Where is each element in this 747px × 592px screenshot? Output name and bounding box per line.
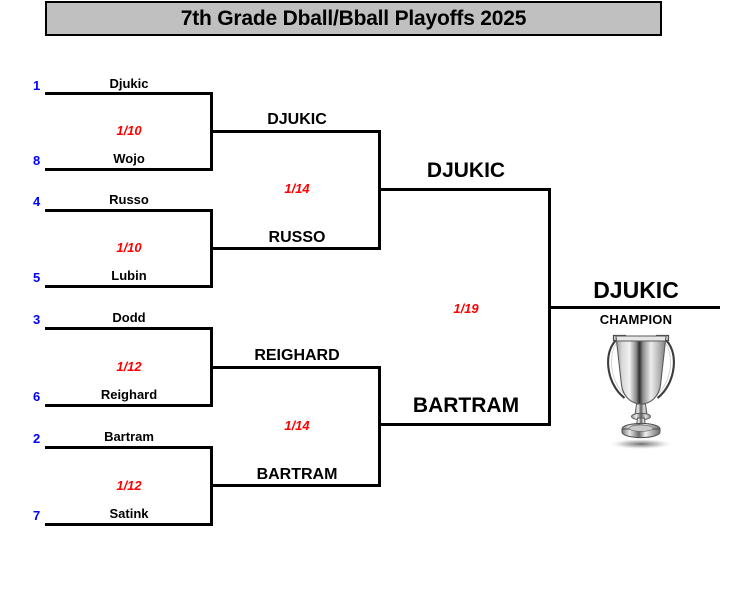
team-r1-m4-top: Bartram bbox=[45, 429, 213, 444]
date-r1-m3: 1/12 bbox=[45, 359, 213, 374]
champion-label: CHAMPION bbox=[551, 312, 721, 327]
team-r1-m1-top: Djukic bbox=[45, 76, 213, 91]
date-r2-m2: 1/14 bbox=[213, 418, 381, 433]
bracket-line-r2-m2-top bbox=[210, 366, 381, 369]
seed-r1-m1-top: 1 bbox=[33, 78, 40, 93]
team-r1-m2-top: Russo bbox=[45, 192, 213, 207]
date-r3: 1/19 bbox=[381, 301, 551, 316]
bracket-line-champion bbox=[548, 306, 720, 309]
team-r1-m3-top: Dodd bbox=[45, 310, 213, 325]
seed-r1-m4-top: 2 bbox=[33, 431, 40, 446]
seed-r1-m2-bottom: 5 bbox=[33, 270, 40, 285]
bracket-line-r2-m2-bottom bbox=[210, 484, 381, 487]
seed-r1-m1-bottom: 8 bbox=[33, 153, 40, 168]
trophy-icon bbox=[596, 328, 686, 453]
title-banner: 7th Grade Dball/Bball Playoffs 2025 bbox=[45, 1, 662, 36]
team-r3-top: DJUKIC bbox=[381, 159, 551, 183]
team-r1-m3-bottom: Reighard bbox=[45, 387, 213, 402]
bracket-line-r1-m2-bottom bbox=[45, 285, 213, 288]
team-r3-bottom: BARTRAM bbox=[381, 394, 551, 418]
bracket-line-r3-top bbox=[378, 188, 551, 191]
seed-r1-m3-bottom: 6 bbox=[33, 389, 40, 404]
bracket-line-r1-m1-bottom bbox=[45, 168, 213, 171]
champion-name: DJUKIC bbox=[551, 277, 721, 304]
bracket-line-r3-bottom bbox=[378, 423, 551, 426]
seed-r1-m2-top: 4 bbox=[33, 194, 40, 209]
bracket-line-r1-m3-bottom bbox=[45, 404, 213, 407]
bracket-connector-r2-m2 bbox=[378, 366, 381, 487]
team-r1-m4-bottom: Satink bbox=[45, 506, 213, 521]
bracket-line-r2-m1-top bbox=[210, 130, 381, 133]
team-r1-m1-bottom: Wojo bbox=[45, 151, 213, 166]
date-r1-m2: 1/10 bbox=[45, 240, 213, 255]
bracket-line-r1-m4-bottom bbox=[45, 523, 213, 526]
date-r1-m4: 1/12 bbox=[45, 478, 213, 493]
team-r1-m2-bottom: Lubin bbox=[45, 268, 213, 283]
bracket-line-r1-m4-top bbox=[45, 446, 213, 449]
bracket-line-r1-m1-top bbox=[45, 92, 213, 95]
bracket-line-r1-m3-top bbox=[45, 327, 213, 330]
team-r2-m2-bottom: BARTRAM bbox=[213, 466, 381, 484]
team-r2-m1-bottom: RUSSO bbox=[213, 229, 381, 247]
playoff-bracket: 7th Grade Dball/Bball Playoffs 2025 1 Dj… bbox=[0, 0, 747, 592]
seed-r1-m4-bottom: 7 bbox=[33, 508, 40, 523]
team-r2-m2-top: REIGHARD bbox=[213, 347, 381, 365]
page-title: 7th Grade Dball/Bball Playoffs 2025 bbox=[181, 7, 526, 31]
date-r1-m1: 1/10 bbox=[45, 123, 213, 138]
bracket-line-r1-m2-top bbox=[45, 209, 213, 212]
date-r2-m1: 1/14 bbox=[213, 181, 381, 196]
team-r2-m1-top: DJUKIC bbox=[213, 111, 381, 129]
bracket-line-r2-m1-bottom bbox=[210, 247, 381, 250]
seed-r1-m3-top: 3 bbox=[33, 312, 40, 327]
